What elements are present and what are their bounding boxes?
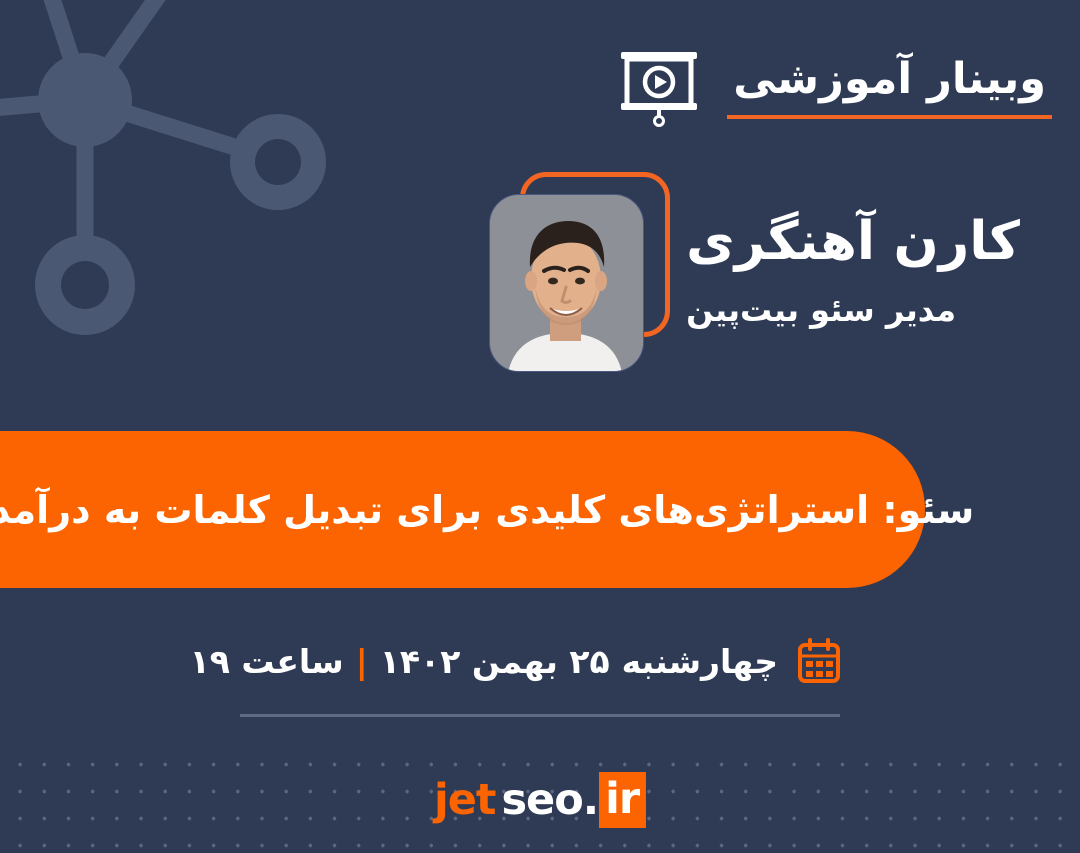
logo-jet: jet	[434, 775, 495, 825]
avatar	[474, 172, 654, 382]
header-text-wrap: وبینار آموزشی	[727, 55, 1052, 118]
speaker-text: کارن آهنگری مدیر سئو بیت‌پین	[686, 172, 1020, 331]
event-date: ۲۵ بهمن ۱۴۰۲	[380, 642, 610, 681]
avatar-photo	[489, 194, 644, 372]
session-title: سئو: استراتژی‌های کلیدی برای تبدیل کلمات…	[0, 488, 974, 532]
event-day: چهارشنبه	[622, 642, 778, 681]
header-title: وبینار آموزشی	[727, 55, 1052, 104]
speaker-name: کارن آهنگری	[686, 210, 1020, 274]
network-graph-decoration	[0, 0, 380, 370]
calendar-icon	[796, 638, 842, 684]
date-separator: |	[356, 642, 368, 681]
jetseo-logo[interactable]: jet seo. ir	[434, 772, 646, 828]
speaker-role: مدیر سئو بیت‌پین	[686, 290, 956, 332]
webinar-poster: وبینار آموزشی کارن آهنگری مدیر سئو بیت‌پ…	[0, 0, 1080, 853]
logo-ir: ir	[599, 772, 646, 828]
presentation-screen-play-icon	[617, 46, 701, 128]
logo-seo: seo.	[501, 775, 598, 825]
header-underline	[727, 115, 1052, 119]
speaker-block: کارن آهنگری مدیر سئو بیت‌پین	[474, 172, 1020, 382]
date-divider	[240, 714, 840, 717]
event-date-text: چهارشنبه ۲۵ بهمن ۱۴۰۲ | ساعت ۱۹	[190, 642, 778, 681]
session-title-banner: سئو: استراتژی‌های کلیدی برای تبدیل کلمات…	[0, 431, 925, 588]
webinar-badge: وبینار آموزشی	[617, 46, 1052, 128]
event-time: ساعت ۱۹	[190, 642, 344, 681]
event-datetime: چهارشنبه ۲۵ بهمن ۱۴۰۲ | ساعت ۱۹	[190, 638, 842, 684]
